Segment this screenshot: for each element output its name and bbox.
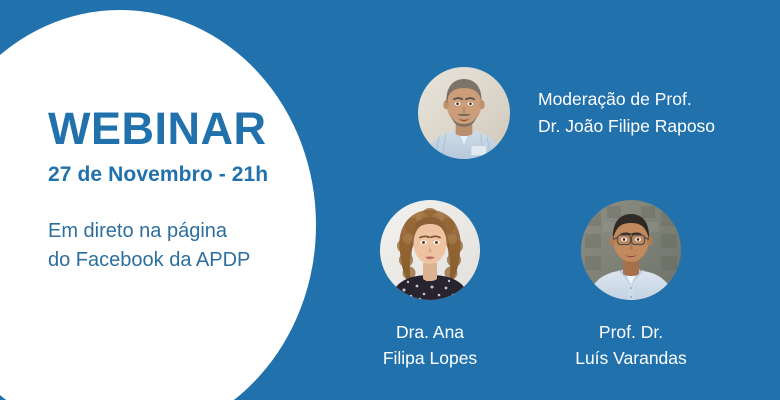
speaker-caption-line-2: Filipa Lopes bbox=[355, 345, 505, 371]
moderator-caption-line-1: Moderação de Prof. bbox=[538, 86, 715, 113]
speaker-caption-ana-filipa-lopes: Dra. Ana Filipa Lopes bbox=[355, 319, 505, 372]
moderator-caption-line-2: Dr. João Filipe Raposo bbox=[538, 113, 715, 140]
speaker-caption-line-2: Luís Varandas bbox=[556, 345, 706, 371]
event-description: Em direto na página do Facebook da APDP bbox=[48, 217, 298, 275]
moderator-caption: Moderação de Prof. Dr. João Filipe Rapos… bbox=[538, 86, 715, 140]
speaker-caption-line-1: Dra. Ana bbox=[355, 319, 505, 345]
speaker-caption-line-1: Prof. Dr. bbox=[556, 319, 706, 345]
event-description-line-1: Em direto na página bbox=[48, 217, 298, 246]
page-title: WEBINAR bbox=[48, 106, 298, 151]
left-text-block: WEBINAR 27 de Novembro - 21h Em direto n… bbox=[48, 106, 298, 275]
event-date-time: 27 de Novembro - 21h bbox=[48, 163, 298, 187]
speaker-caption-luis-varandas: Prof. Dr. Luís Varandas bbox=[556, 319, 706, 372]
event-description-line-2: do Facebook da APDP bbox=[48, 246, 298, 275]
speaker-ana-filipa-lopes: Dra. Ana Filipa Lopes bbox=[355, 200, 505, 372]
photo-luis-varandas bbox=[581, 200, 681, 300]
webinar-poster: WEBINAR 27 de Novembro - 21h Em direto n… bbox=[0, 0, 780, 400]
speaker-luis-varandas: Prof. Dr. Luís Varandas bbox=[556, 200, 706, 372]
photo-ana-filipa-lopes bbox=[380, 200, 480, 300]
moderator-block: Moderação de Prof. Dr. João Filipe Rapos… bbox=[418, 67, 715, 159]
photo-joao-filipe-raposo bbox=[418, 67, 510, 159]
